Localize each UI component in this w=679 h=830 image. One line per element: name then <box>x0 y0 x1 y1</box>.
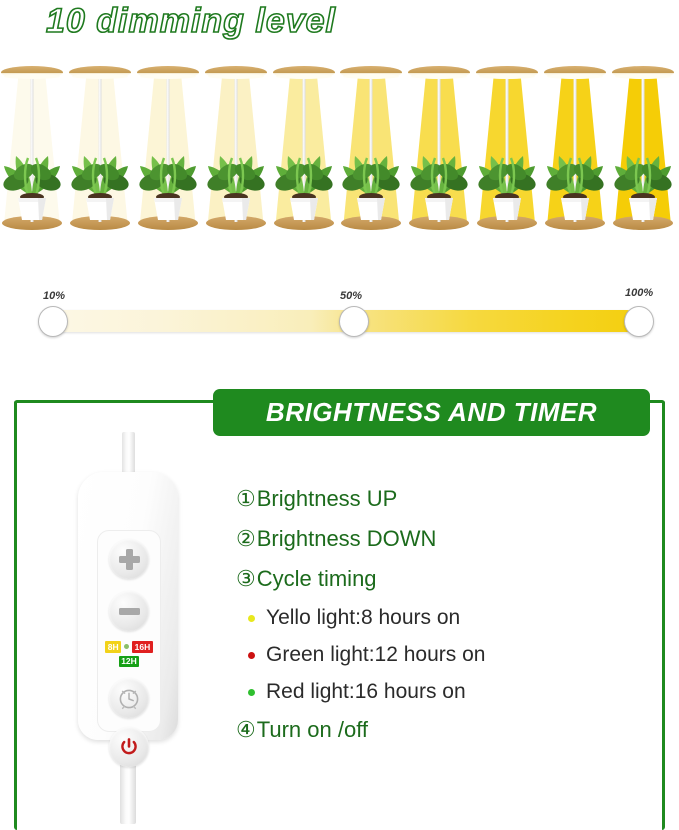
list-item: Yello light:8 hours on <box>248 606 656 630</box>
plant-illustration <box>62 126 138 224</box>
lamp-unit <box>134 62 202 232</box>
lamp-unit <box>609 62 677 232</box>
badge-12h: 12H <box>119 656 140 668</box>
potted-plant <box>605 126 679 224</box>
lamp-brightness-strip <box>0 62 679 232</box>
lamp-unit <box>66 62 134 232</box>
list-number: ③ <box>236 568 256 590</box>
power-icon <box>117 735 141 759</box>
potted-plant <box>0 126 70 224</box>
slider-knob-mid[interactable] <box>339 306 369 337</box>
lamp-unit <box>541 62 609 232</box>
list-label: Brightness UP <box>257 486 398 512</box>
lamp-head <box>69 66 131 79</box>
list-item: ③ Cycle timing <box>236 566 656 592</box>
plus-icon-vertical <box>126 549 133 570</box>
lamp-unit <box>405 62 473 232</box>
plant-illustration <box>469 126 545 224</box>
minus-icon <box>119 608 140 615</box>
lamp-unit <box>202 62 270 232</box>
lamp-unit <box>473 62 541 232</box>
list-number: ① <box>236 488 256 510</box>
list-label: Green light:12 hours on <box>266 643 485 667</box>
list-label: Cycle timing <box>257 566 377 592</box>
power-button[interactable] <box>109 727 149 767</box>
lamp-unit <box>270 62 338 232</box>
list-number: ② <box>236 528 256 550</box>
clock-icon <box>116 685 142 711</box>
potted-plant <box>198 126 274 224</box>
plant-illustration <box>333 126 409 224</box>
banner-title: BRIGHTNESS AND TIMER <box>266 397 597 428</box>
lamp-head <box>1 66 63 79</box>
slider-label-max: 100% <box>625 287 653 299</box>
list-item: ① Brightness UP <box>236 486 656 512</box>
potted-plant <box>469 126 545 224</box>
list-item: ② Brightness DOWN <box>236 526 656 552</box>
list-label: Red light:16 hours on <box>266 680 466 704</box>
brightness-down-button[interactable] <box>109 591 149 631</box>
lamp-head <box>205 66 267 79</box>
list-item: ④ Turn on /off <box>236 717 656 743</box>
page-title: 10 dimming level <box>46 2 336 41</box>
lamp-head <box>273 66 335 79</box>
slider-label-min: 10% <box>43 290 65 302</box>
instruction-list: ① Brightness UP ② Brightness DOWN ③ Cycl… <box>236 486 656 757</box>
slider-knob-max[interactable] <box>624 306 654 337</box>
section-banner: BRIGHTNESS AND TIMER <box>213 389 650 436</box>
plant-illustration <box>198 126 274 224</box>
lamp-head <box>612 66 674 79</box>
lamp-head <box>544 66 606 79</box>
list-label: Yello light:8 hours on <box>266 606 460 630</box>
plant-illustration <box>266 126 342 224</box>
plant-illustration <box>401 126 477 224</box>
plant-illustration <box>130 126 206 224</box>
potted-plant <box>130 126 206 224</box>
plant-illustration <box>605 126 679 224</box>
lamp-unit <box>0 62 66 232</box>
brightness-up-button[interactable] <box>109 539 149 579</box>
timer-button[interactable] <box>109 678 149 718</box>
list-label: Turn on /off <box>257 717 368 743</box>
list-label: Brightness DOWN <box>257 526 437 552</box>
badge-16h: 16H <box>132 641 153 653</box>
led-indicator-icon <box>124 644 129 649</box>
potted-plant <box>401 126 477 224</box>
badge-row-bottom: 12H <box>98 656 160 668</box>
lamp-head <box>137 66 199 79</box>
lamp-head <box>476 66 538 79</box>
badge-row-top: 8H 16H <box>98 641 160 653</box>
bullet-dot-icon <box>248 615 255 622</box>
timer-indicator-badges: 8H 16H 12H <box>98 641 160 667</box>
bullet-dot-icon <box>248 652 255 659</box>
bullet-dot-icon <box>248 689 255 696</box>
dimming-slider[interactable]: 10% 50% 100% <box>0 286 679 346</box>
remote-controller: 8H 16H 12H <box>64 432 196 822</box>
list-item: Red light:16 hours on <box>248 680 656 704</box>
potted-plant <box>266 126 342 224</box>
plant-illustration <box>0 126 70 224</box>
badge-8h: 8H <box>105 641 121 653</box>
lamp-head <box>340 66 402 79</box>
plant-illustration <box>537 126 613 224</box>
slider-label-mid: 50% <box>340 290 362 302</box>
potted-plant <box>62 126 138 224</box>
lamp-head <box>408 66 470 79</box>
list-item: Green light:12 hours on <box>248 643 656 667</box>
controller-faceplate: 8H 16H 12H <box>97 530 161 732</box>
slider-knob-min[interactable] <box>38 306 68 337</box>
list-number: ④ <box>236 719 256 741</box>
controller-body: 8H 16H 12H <box>78 472 178 740</box>
potted-plant <box>537 126 613 224</box>
potted-plant <box>333 126 409 224</box>
lamp-unit <box>337 62 405 232</box>
